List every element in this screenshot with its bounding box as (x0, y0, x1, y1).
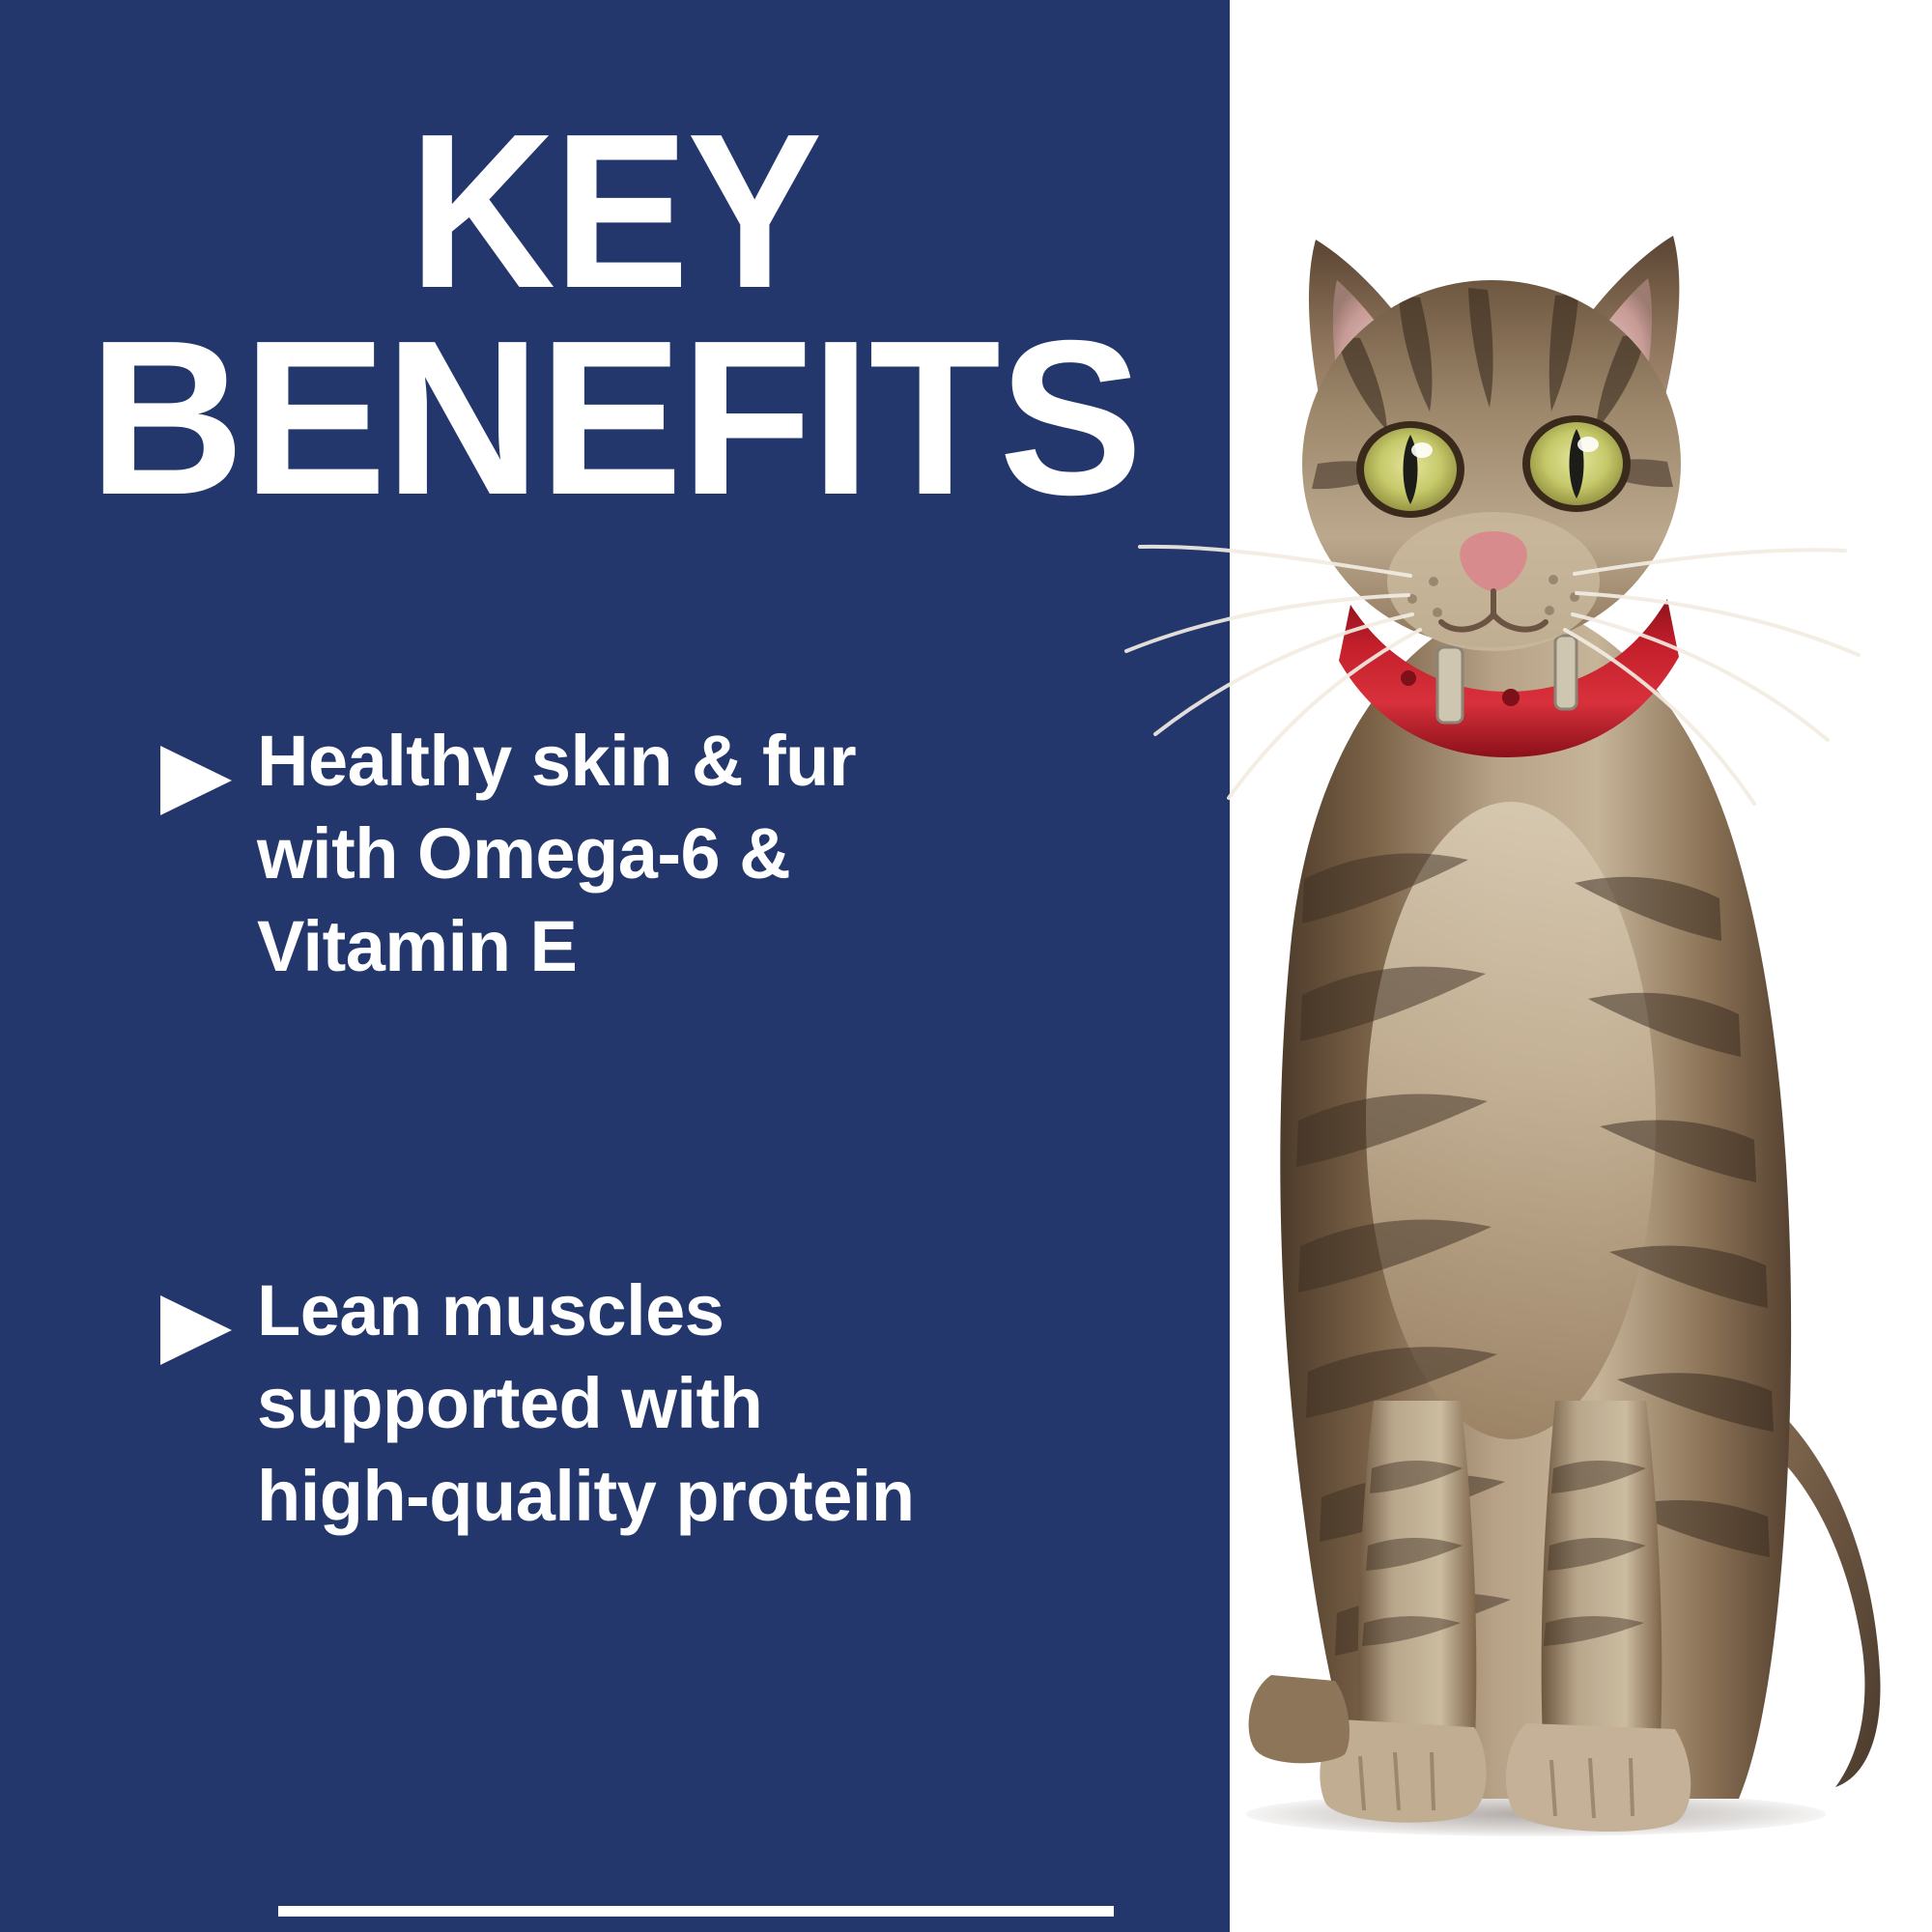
page-title: KEY BENEFITS (0, 108, 1230, 523)
cat-front-leg-right (1542, 1401, 1662, 1760)
benefit-text-1: Healthy skin & fur with Omega-6 & Vitami… (257, 715, 1114, 994)
benefit-2-line-3: high-quality protein (257, 1456, 915, 1536)
benefit-1-line-2: with Omega-6 & (257, 813, 790, 894)
cat-front-leg-left (1358, 1401, 1477, 1760)
triangle-bullet-icon (160, 1295, 232, 1365)
list-item: Lean muscles supported with high-quality… (0, 1264, 1230, 1544)
benefit-list: Healthy skin & fur with Omega-6 & Vitami… (0, 715, 1230, 1543)
key-benefits-panel: KEY BENEFITS Healthy skin & fur with Ome… (0, 0, 1932, 1932)
page-title-line-1: KEY (49, 108, 1180, 315)
cat-paw-right (1506, 1723, 1690, 1832)
benefit-divider (278, 1906, 1114, 1917)
cat-illustration (1101, 145, 1932, 1845)
cat-photo (1101, 145, 1932, 1845)
list-item: Healthy skin & fur with Omega-6 & Vitami… (0, 715, 1230, 994)
benefit-2-line-2: supported with (257, 1363, 762, 1443)
triangle-bullet-icon (160, 746, 232, 815)
benefit-text-2: Lean muscles supported with high-quality… (257, 1264, 1114, 1544)
benefit-1-line-3: Vitamin E (257, 906, 577, 986)
benefit-1-line-1: Healthy skin & fur (257, 721, 856, 801)
cat-eye-right (1522, 415, 1631, 512)
cat-paw-back-left (1249, 1675, 1350, 1763)
benefit-2-line-1: Lean muscles (257, 1270, 724, 1350)
cat-eye-left (1356, 421, 1464, 518)
page-title-line-2: BENEFITS (13, 315, 1218, 522)
